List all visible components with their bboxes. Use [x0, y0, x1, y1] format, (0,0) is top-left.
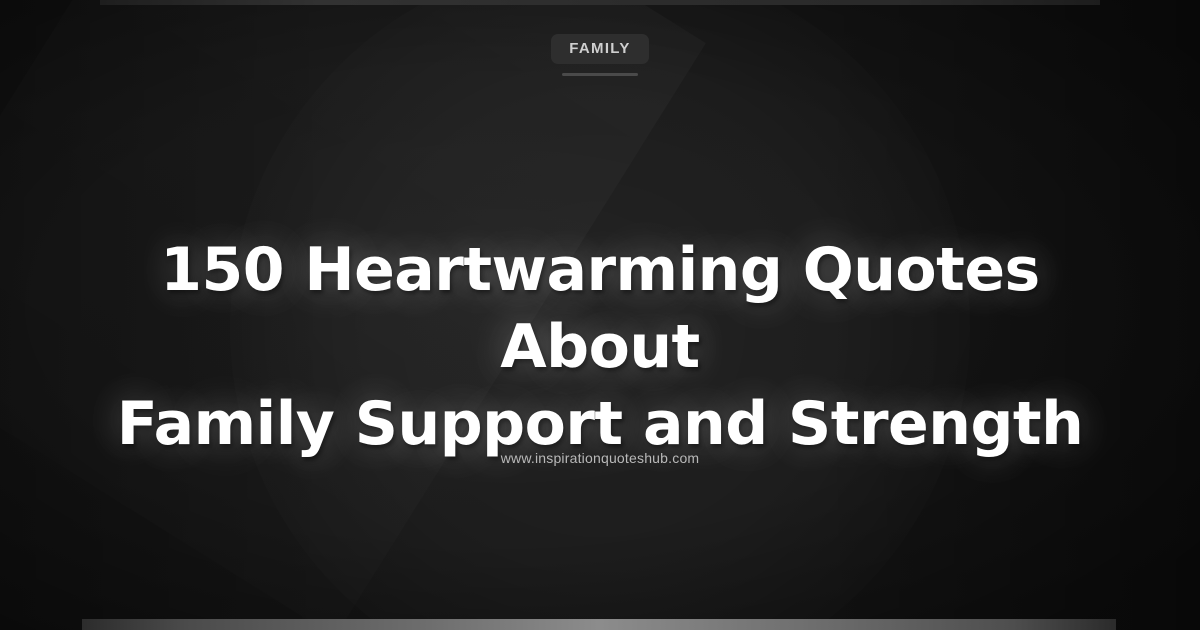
page-title-line-1: 150 Heartwarming Quotes About: [60, 232, 1140, 386]
bottom-chrome-bar: [82, 619, 1116, 630]
site-url[interactable]: www.inspirationquoteshub.com: [0, 450, 1200, 466]
title-block: 150 Heartwarming Quotes About Family Sup…: [0, 232, 1200, 462]
badge-divider: [562, 73, 638, 76]
page-title: 150 Heartwarming Quotes About Family Sup…: [60, 232, 1140, 462]
quote-card-canvas: FAMILY 150 Heartwarming Quotes About Fam…: [0, 0, 1200, 630]
card-content: FAMILY 150 Heartwarming Quotes About Fam…: [0, 0, 1200, 630]
category-badge[interactable]: FAMILY: [551, 34, 648, 64]
